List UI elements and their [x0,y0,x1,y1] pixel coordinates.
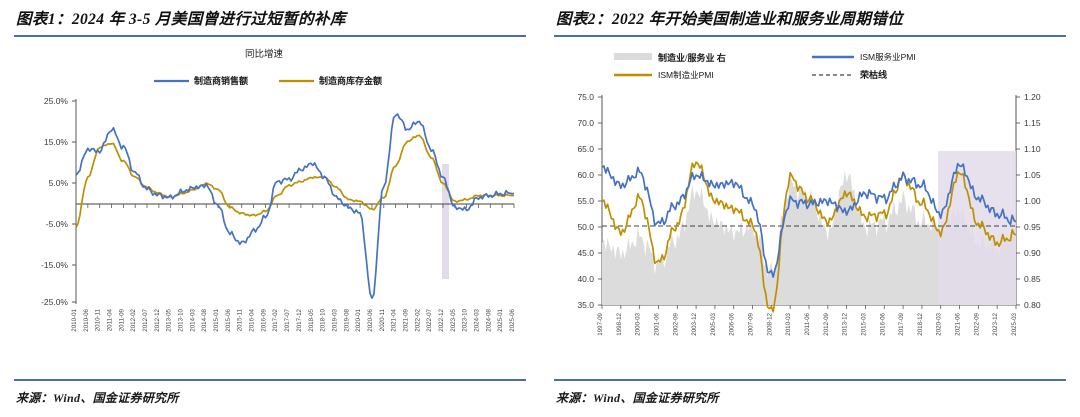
legend-label-sales: 制造商销售额 [194,75,248,86]
chart2-xtick-label: 2005-03 [710,312,717,335]
chart2-ytick-right: 0.90 [1024,248,1041,258]
chart1-xtick-label: 2016-04 [249,308,256,331]
chart1-xtick-label: 2018-10 [320,308,327,331]
chart2-y-right-labels: 1.201.151.101.051.000.950.900.850.80 [1024,92,1041,310]
chart1-xtick-label: 2017-02 [272,308,279,331]
figure-1-source: 来源：Wind、国金证券研究所 [16,389,179,406]
figure-2-panel: 图表2：2022 年开始美国制造业和服务业周期错位 制造业/服务业 右 ISM服… [540,0,1080,417]
chart1-xtick-label: 2021-09 [402,308,409,331]
chart2-ytick-right: 0.85 [1024,274,1041,284]
chart1-ytick-2: 5.0% [49,178,69,188]
chart1-xtick-label: 2025-06 [509,308,516,331]
chart1-xtick-label: 2018-05 [308,308,315,331]
figure-1-panel: 图表1：2024 年 3-5 月美国曾进行过短暂的补库 同比增速 制造商销售额 … [0,0,540,417]
chart2-ytick-left: 60.0 [577,170,594,180]
figure-1-title-rule [14,35,526,37]
chart2-y-left-ticks [598,97,602,305]
chart2-ytick-right: 1.00 [1024,196,1041,206]
chart1-xtick-label: 2022-02 [414,308,421,331]
chart1-x-labels: 2010-012010-062010-112011-042011-092012-… [71,308,516,331]
chart1-xtick-label: 2012-07 [142,308,149,331]
chart1-xtick-label: 2011-04 [107,308,114,331]
chart1-xtick-label: 2020-11 [379,308,386,331]
chart2-xtick-label: 2001-06 [653,312,660,335]
chart1-xtick-label: 2017-12 [296,308,303,331]
chart1-xtick-label: 2013-10 [178,308,185,331]
chart2-xtick-label: 2016-06 [879,312,886,335]
chart1-xtick-label: 2016-09 [260,308,267,331]
legend-label-inventory: 制造商库存金额 [319,75,382,86]
chart2-ytick-left: 70.0 [577,118,594,128]
chart1-xtick-label: 2023-10 [462,308,469,331]
chart1-xtick-label: 2010-06 [83,308,90,331]
chart1-xtick-label: 2020-06 [367,308,374,331]
chart2-xtick-label: 2022-09 [973,312,980,335]
chart2-xtick-label: 1998-12 [616,312,623,335]
chart2-xtick-label: 2025-03 [1011,312,1018,335]
chart2-xtick-label: 2010-03 [785,312,792,335]
chart1-ytick-4: -15.0% [41,260,68,270]
chart2-xtick-label: 2013-12 [842,312,849,335]
chart1-xtick-label: 2011-09 [118,308,125,331]
legend-swatch-ratio [614,53,652,60]
chart1-xtick-label: 2025-01 [497,308,504,331]
chart2-x-labels: 1997-091998-122000-032001-062002-092003-… [597,312,1018,335]
chart2-ytick-left: 65.0 [577,144,594,154]
chart2-xtick-label: 2012-09 [823,312,830,335]
chart1-y-ticks [72,101,76,302]
chart1-xtick-label: 2015-01 [213,308,220,331]
chart1-xtick-label: 2012-02 [130,308,137,331]
figure-1-chart: 同比增速 制造商销售额 制造商库存金额 [14,39,526,369]
chart2-xtick-label: 2000-03 [635,312,642,335]
chart2-ytick-left: 75.0 [577,92,594,102]
chart2-xtick-label: 2007-09 [748,312,755,335]
chart1-xtick-label: 2013-05 [166,308,173,331]
chart1-xtick-label: 2017-07 [284,308,291,331]
chart1-xtick-label: 2024-08 [485,308,492,331]
chart2-xtick-label: 2018-12 [917,312,924,335]
figure-1-bottom-rule [14,379,526,381]
chart2-xtick-label: 1997-09 [597,312,604,335]
chart2-highlight-band [938,151,1016,305]
chart2-xtick-label: 2020-03 [936,312,943,335]
chart1-xtick-label: 2014-03 [189,308,196,331]
chart1-xtick-label: 2022-07 [426,308,433,331]
figure-2-title: 图表2：2022 年开始美国制造业和服务业周期错位 [554,0,1066,35]
figure-2-title-rule [554,35,1066,37]
chart1-xtick-label: 2014-08 [201,308,208,331]
chart1-ytick-1: 15.0% [44,137,69,147]
chart2-svg: 制造业/服务业 右 ISM服务业PMI ISM制造业PMI 荣枯线 [554,39,1066,369]
chart2-xtick-label: 2011-06 [804,312,811,335]
legend-label-services: ISM服务业PMI [860,52,916,62]
chart1-xtick-label: 2020-01 [355,308,362,331]
chart1-xtick-label: 2019-03 [331,308,338,331]
chart2-xtick-label: 2023-12 [992,312,999,335]
legend-label-threshold: 荣枯线 [859,69,887,80]
chart2-y-right-ticks [1016,97,1020,305]
chart1-xtick-label: 2023-05 [450,308,457,331]
page-root: 图表1：2024 年 3-5 月美国曾进行过短暂的补库 同比增速 制造商销售额 … [0,0,1080,417]
chart2-xtick-label: 2017-09 [898,312,905,335]
chart2-xtick-label: 2002-09 [672,312,679,335]
chart2-xtick-label: 2003-12 [691,312,698,335]
chart2-ytick-left: 55.0 [577,196,594,206]
chart1-xtick-label: 2015-06 [225,308,232,331]
chart1-ytick-3: -5.0% [46,219,69,229]
chart1-xtick-label: 2010-11 [95,308,102,331]
chart2-xtick-label: 2021-06 [955,312,962,335]
chart2-ytick-left: 45.0 [577,248,594,258]
chart1-ytick-0: 25.0% [44,96,69,106]
chart2-xtick-label: 2006-06 [729,312,736,335]
chart1-svg: 同比增速 制造商销售额 制造商库存金额 [14,39,526,369]
chart2-ytick-left: 40.0 [577,274,594,284]
chart2-ytick-right: 0.95 [1024,222,1041,232]
chart1-xtick-label: 2012-12 [154,308,161,331]
chart1-legend: 制造商销售额 制造商库存金额 [154,75,382,86]
chart1-xtick-label: 2021-04 [391,308,398,331]
legend-label-ratio: 制造业/服务业 右 [658,52,726,63]
chart2-ytick-right: 1.05 [1024,170,1041,180]
chart2-xtick-label: 2008-12 [766,312,773,335]
chart1-xtick-label: 2019-08 [343,308,350,331]
chart1-ytick-5: -25.0% [41,297,68,307]
figure-1-title: 图表1：2024 年 3-5 月美国曾进行过短暂的补库 [14,0,526,35]
chart2-ytick-right: 1.15 [1024,118,1041,128]
chart2-x-ticks [602,305,1016,309]
chart1-xtick-label: 2024-03 [473,308,480,331]
chart2-ytick-right: 1.20 [1024,92,1041,102]
chart2-xtick-label: 2015-03 [860,312,867,335]
chart1-xtick-label: 2010-01 [71,308,78,331]
chart2-legend: 制造业/服务业 右 ISM服务业PMI ISM制造业PMI 荣枯线 [614,52,916,80]
figure-2-bottom-rule [554,379,1066,381]
chart1-subtitle: 同比增速 [245,48,284,60]
chart2-ytick-left: 35.0 [577,300,594,310]
chart2-ytick-left: 50.0 [577,222,594,232]
chart2-y-left-labels: 75.070.065.060.055.050.045.040.035.0 [577,92,594,310]
chart1-xtick-label: 2022-12 [438,308,445,331]
legend-label-manufacturing: ISM制造业PMI [658,70,714,80]
chart2-ytick-right: 1.10 [1024,144,1041,154]
figure-2-source: 来源：Wind、国金证券研究所 [556,389,719,406]
figure-2-chart: 制造业/服务业 右 ISM服务业PMI ISM制造业PMI 荣枯线 [554,39,1066,369]
chart1-xtick-label: 2015-11 [237,308,244,331]
chart2-ytick-right: 0.80 [1024,300,1041,310]
